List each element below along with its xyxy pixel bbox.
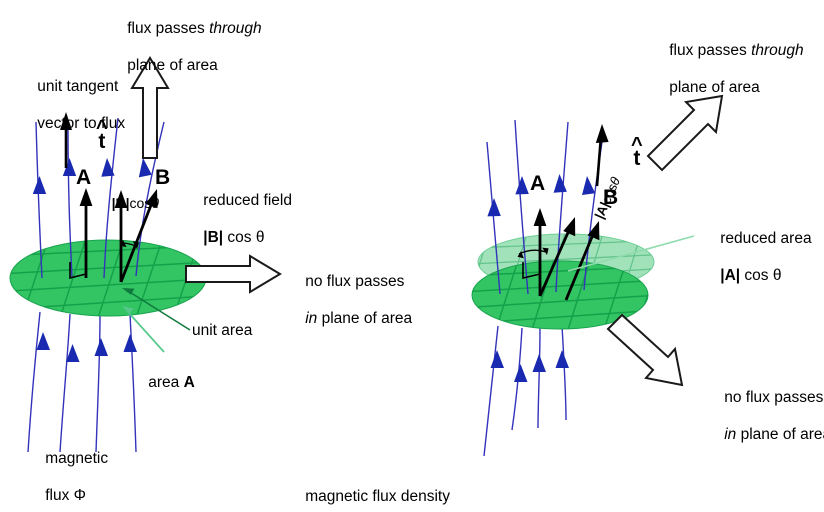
reduced-field-note: reduced field |B| cos θ: [186, 174, 292, 265]
right-top-note-line2: plane of area: [669, 79, 760, 96]
left-top-note-line2: plane of area: [127, 57, 218, 74]
caption-title: magnetic flux density: [305, 488, 450, 505]
flux-lines-below-left: [28, 312, 136, 452]
right-no-flux-line1: no flux passes: [724, 389, 823, 406]
vector-A-label-right: A: [530, 172, 545, 197]
area-disc-left: [0, 232, 210, 324]
left-no-flux-emphasis: in: [305, 310, 317, 327]
figure-canvas: flux passes through plane of area unit t…: [0, 0, 824, 512]
projection-label-left: |B|cosθ: [96, 178, 159, 228]
vector-B-label-left: B: [155, 166, 170, 191]
left-top-note-line1-pre: flux passes: [127, 20, 209, 37]
flux-arrowheads-below-left: [37, 332, 138, 362]
left-no-flux-rest: plane of area: [317, 310, 412, 327]
vector-A-label-left: A: [76, 166, 91, 191]
reduced-area-mag: |A|: [720, 267, 740, 284]
area-a-vector: A: [184, 374, 195, 391]
hat-accent-icon-right: ^: [631, 134, 643, 158]
flux-lines-below-right: [484, 326, 566, 456]
left-top-note-emphasis: through: [209, 20, 262, 37]
reduced-area-line1: reduced area: [720, 230, 811, 247]
area-a-prefix: area: [148, 374, 183, 391]
projection-theta-left: θ: [151, 195, 159, 211]
vector-B-label-right: B: [603, 186, 618, 211]
figure-caption: magnetic flux density B = |B|^t: [288, 470, 450, 512]
right-no-flux-emphasis: in: [724, 426, 736, 443]
flux-arrowheads-below-right: [491, 350, 570, 382]
magnetic-flux-line2-pre: flux: [45, 487, 73, 504]
reduced-field-mag: |B|: [203, 229, 223, 246]
magnetic-flux-symbol: Φ: [74, 487, 86, 504]
unit-tangent-note: unit tangent vector to flux: [20, 60, 125, 151]
left-top-note: flux passes through plane of area: [110, 2, 262, 93]
unit-area-label: unit area: [192, 322, 252, 340]
right-no-flux-note: no flux passes in plane of area: [707, 371, 824, 462]
right-top-note-line1-pre: flux passes: [669, 42, 751, 59]
reduced-field-rest: cos θ: [223, 229, 264, 246]
unit-tangent-note-line1: unit tangent: [37, 78, 118, 95]
reduced-area-note: reduced area |A| cos θ: [703, 212, 812, 303]
magnetic-flux-note: magnetic flux Φ: [28, 432, 108, 512]
right-no-flux-rest: plane of area: [736, 426, 824, 443]
left-no-flux-note: no flux passes in plane of area: [288, 255, 412, 346]
outline-arrow-inplane-right: [608, 315, 682, 385]
reduced-field-line1: reduced field: [203, 192, 292, 209]
right-top-note: flux passes through plane of area: [652, 24, 804, 115]
area-a-label: area A: [131, 356, 195, 411]
reduced-area-rest: cos θ: [740, 267, 781, 284]
projection-cos-left: cos: [130, 195, 152, 211]
left-no-flux-line1: no flux passes: [305, 273, 404, 290]
right-top-note-emphasis: through: [751, 42, 804, 59]
hat-accent-icon: ^: [96, 117, 108, 141]
magnetic-flux-line1: magnetic: [45, 450, 108, 467]
projection-mag-left: |B|: [112, 195, 130, 211]
